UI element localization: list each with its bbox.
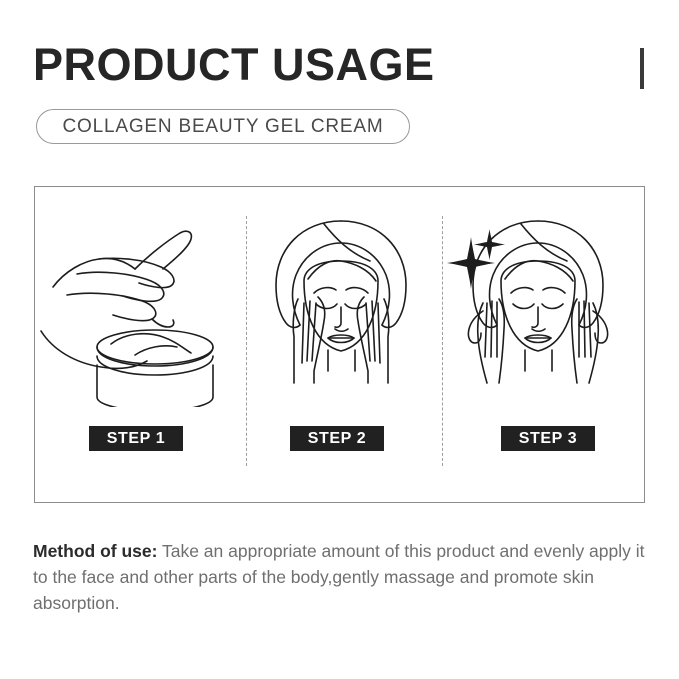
step-label-1: STEP 1 bbox=[107, 430, 165, 448]
hand-scooping-cream-from-jar-icon bbox=[39, 211, 242, 407]
page-title: PRODUCT USAGE bbox=[33, 41, 435, 88]
step-badge-2: STEP 2 bbox=[290, 426, 384, 451]
method-of-use-block: Method of use: Take an appropriate amoun… bbox=[33, 538, 647, 616]
step-badge-1: STEP 1 bbox=[89, 426, 183, 451]
method-of-use-label: Method of use: bbox=[33, 541, 157, 561]
step-column-1: STEP 1 bbox=[39, 187, 242, 502]
title-accent-bar bbox=[640, 48, 644, 89]
steps-frame: STEP 1 bbox=[34, 186, 645, 503]
sparkle-icon bbox=[447, 229, 505, 289]
step-column-3: STEP 3 bbox=[437, 187, 640, 502]
subtitle-pill: COLLAGEN BEAUTY GEL CREAM bbox=[36, 109, 410, 144]
step-badge-3: STEP 3 bbox=[501, 426, 595, 451]
woman-with-glowing-skin-icon bbox=[437, 211, 640, 407]
subtitle-text: COLLAGEN BEAUTY GEL CREAM bbox=[63, 116, 384, 138]
step-label-2: STEP 2 bbox=[308, 430, 366, 448]
woman-applying-cream-to-cheeks-icon bbox=[240, 211, 443, 407]
step-column-2: STEP 2 bbox=[240, 187, 443, 502]
step-label-3: STEP 3 bbox=[519, 430, 577, 448]
